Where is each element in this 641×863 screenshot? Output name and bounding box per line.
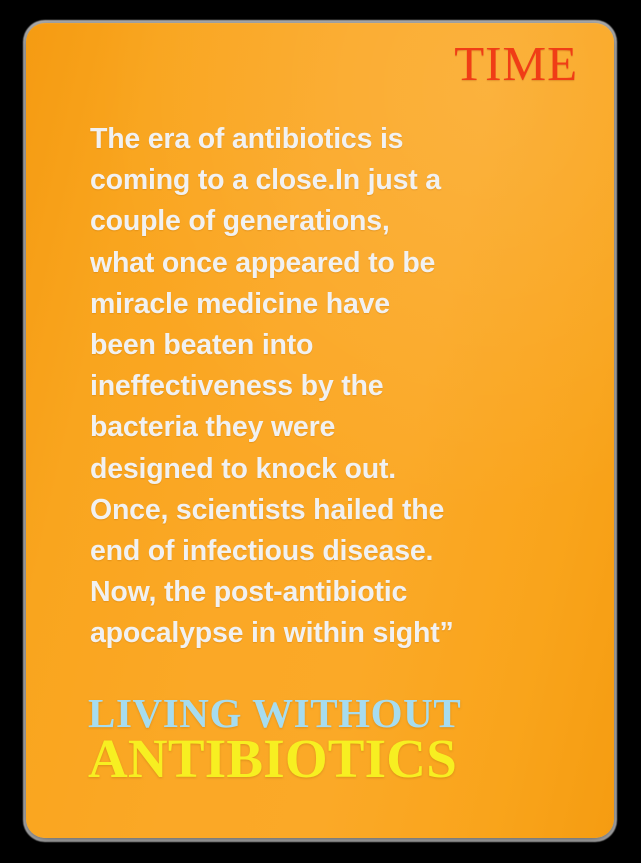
quote-line: been beaten into bbox=[90, 325, 586, 366]
poster-root: TIME The era of antibiotics is coming to… bbox=[0, 0, 641, 863]
quote-block: The era of antibiotics is coming to a cl… bbox=[90, 119, 586, 655]
quote-line: bacteria they were bbox=[90, 407, 586, 448]
quote-line: apocalypse in within sight” bbox=[90, 613, 586, 654]
quote-line: end of infectious disease. bbox=[90, 531, 586, 572]
quote-line: Now, the post-antibiotic bbox=[90, 572, 586, 613]
quote-line: what once appeared to be bbox=[90, 243, 586, 284]
magazine-cover-card: TIME The era of antibiotics is coming to… bbox=[26, 23, 614, 838]
quote-line: designed to knock out. bbox=[90, 449, 586, 490]
quote-line: Once, scientists hailed the bbox=[90, 490, 586, 531]
quote-line: ineffectiveness by the bbox=[90, 366, 586, 407]
quote-line: couple of generations, bbox=[90, 201, 586, 242]
quote-line: The era of antibiotics is bbox=[90, 119, 586, 160]
cover-title-line-2: ANTIBIOTICS bbox=[88, 731, 586, 786]
quote-line: coming to a close.In just a bbox=[90, 160, 586, 201]
quote-line: miracle medicine have bbox=[90, 284, 586, 325]
time-magazine-logo: TIME bbox=[454, 39, 578, 88]
cover-title-block: LIVING WITHOUT ANTIBIOTICS bbox=[88, 693, 586, 786]
masthead-row: TIME bbox=[26, 39, 578, 88]
